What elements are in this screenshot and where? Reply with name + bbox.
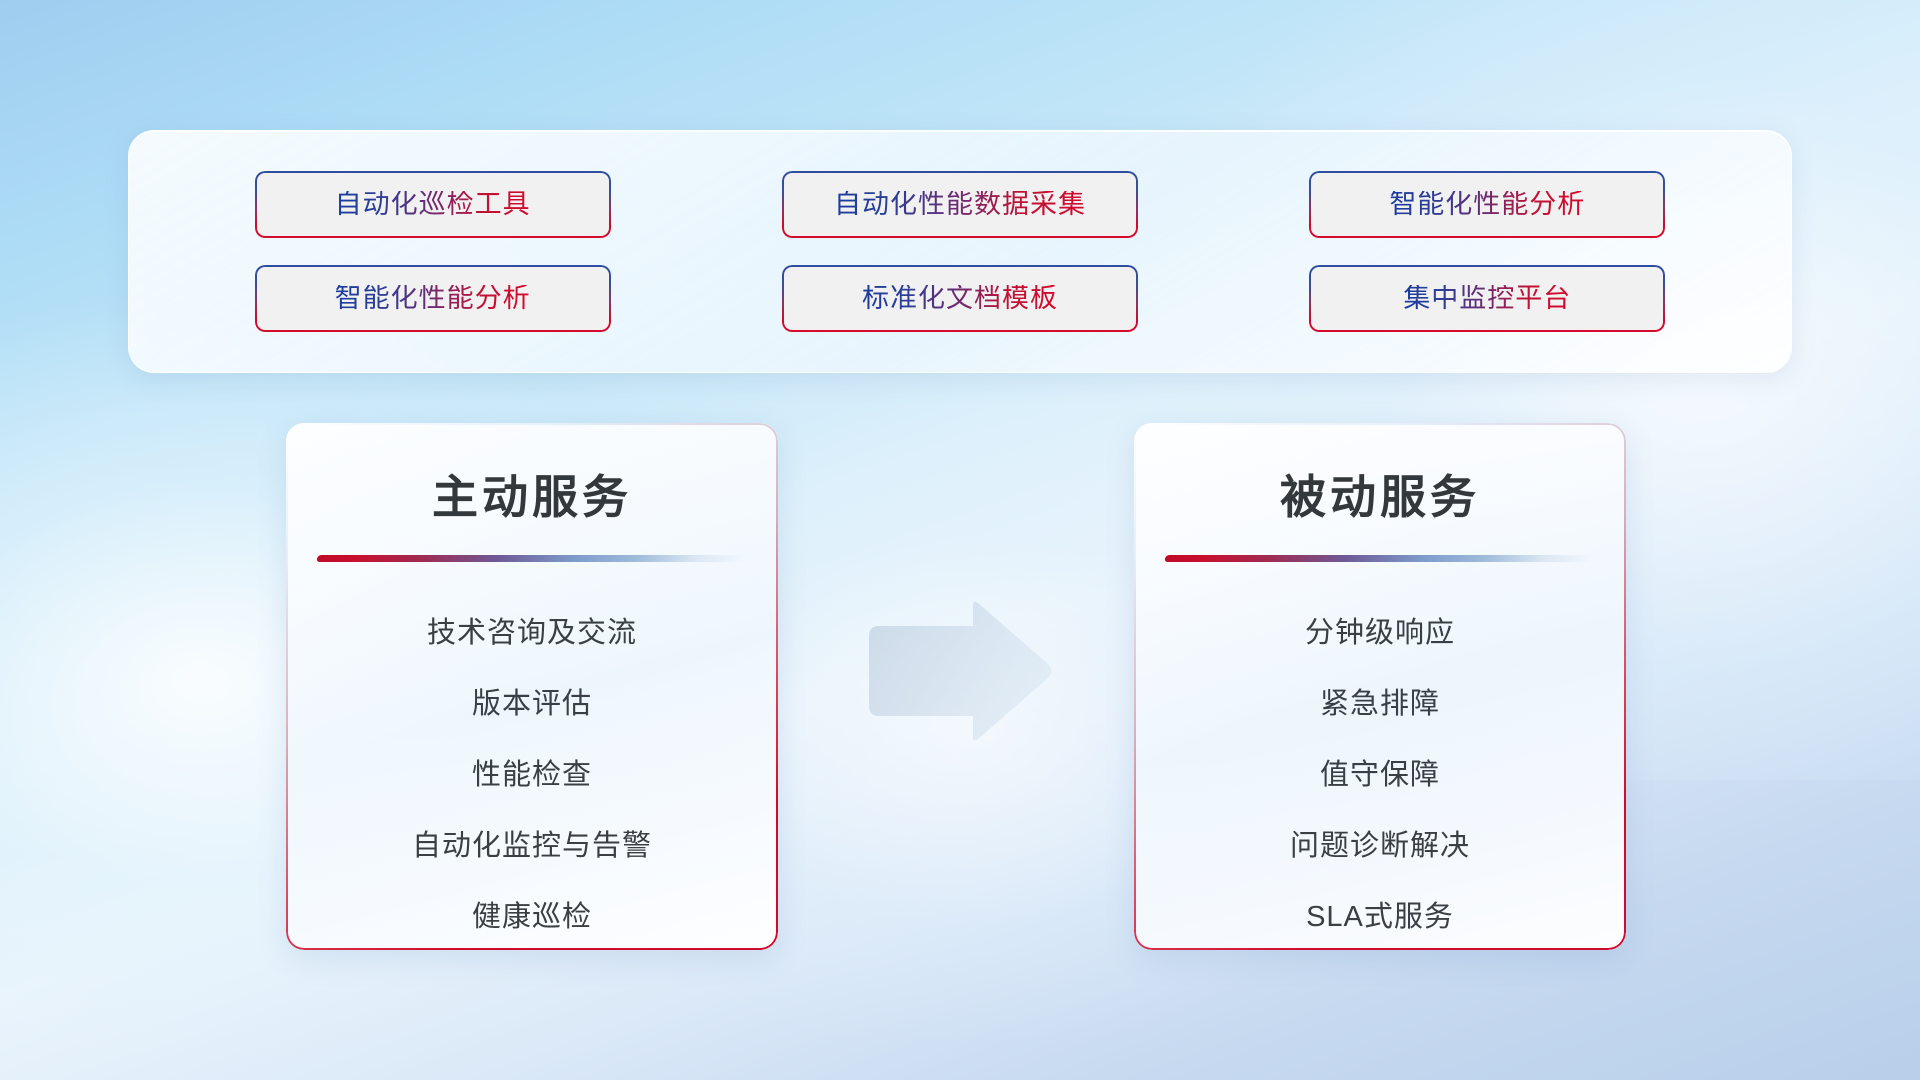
card-divider-reactive bbox=[1164, 555, 1596, 562]
capability-chip-label: 自动化巡检工具 bbox=[335, 191, 531, 218]
service-list-item: 自动化监控与告警 bbox=[286, 811, 778, 882]
capability-chip-6[interactable]: 集中监控平台 bbox=[1309, 265, 1665, 332]
capability-chip-label: 自动化性能数据采集 bbox=[834, 191, 1086, 218]
service-list-proactive: 技术咨询及交流 版本评估 性能检查 自动化监控与告警 健康巡检 bbox=[286, 598, 778, 950]
diagram-stage: 自动化巡检工具 自动化性能数据采集 智能化性能分析 智能化性能分析 标准化文档模… bbox=[0, 0, 1920, 1080]
card-title-proactive: 主动服务 bbox=[286, 461, 778, 527]
card-divider-proactive bbox=[316, 555, 748, 562]
capability-chip-label: 集中监控平台 bbox=[1403, 285, 1571, 312]
service-list-item: 紧急排障 bbox=[1134, 669, 1626, 740]
capability-chip-4[interactable]: 智能化性能分析 bbox=[255, 265, 611, 332]
capability-chip-label: 智能化性能分析 bbox=[1389, 191, 1585, 218]
capability-chip-label: 智能化性能分析 bbox=[335, 285, 531, 312]
service-card-proactive: 主动服务 技术咨询及交流 版本评估 性能检查 自动化监控与告警 健康巡检 bbox=[286, 423, 778, 950]
capability-chip-2[interactable]: 自动化性能数据采集 bbox=[782, 171, 1138, 238]
service-list-item: 性能检查 bbox=[286, 740, 778, 811]
capability-chip-label: 标准化文档模板 bbox=[862, 285, 1058, 312]
capability-chip-1[interactable]: 自动化巡检工具 bbox=[255, 171, 611, 238]
capability-panel: 自动化巡检工具 自动化性能数据采集 智能化性能分析 智能化性能分析 标准化文档模… bbox=[128, 130, 1792, 373]
service-list-item: 问题诊断解决 bbox=[1134, 811, 1626, 882]
service-list-item: 分钟级响应 bbox=[1134, 598, 1626, 669]
service-list-reactive: 分钟级响应 紧急排障 值守保障 问题诊断解决 SLA式服务 bbox=[1134, 598, 1626, 950]
service-list-item: 健康巡检 bbox=[286, 882, 778, 950]
service-card-reactive: 被动服务 分钟级响应 紧急排障 值守保障 问题诊断解决 SLA式服务 bbox=[1134, 423, 1626, 950]
service-list-item: 技术咨询及交流 bbox=[286, 598, 778, 669]
capability-chip-5[interactable]: 标准化文档模板 bbox=[782, 265, 1138, 332]
service-list-item: SLA式服务 bbox=[1134, 882, 1626, 950]
capability-chip-grid: 自动化巡检工具 自动化性能数据采集 智能化性能分析 智能化性能分析 标准化文档模… bbox=[129, 131, 1791, 372]
flow-arrow-right-icon bbox=[865, 600, 1055, 742]
service-list-item: 值守保障 bbox=[1134, 740, 1626, 811]
service-list-item: 版本评估 bbox=[286, 669, 778, 740]
capability-chip-3[interactable]: 智能化性能分析 bbox=[1309, 171, 1665, 238]
card-title-reactive: 被动服务 bbox=[1134, 461, 1626, 527]
